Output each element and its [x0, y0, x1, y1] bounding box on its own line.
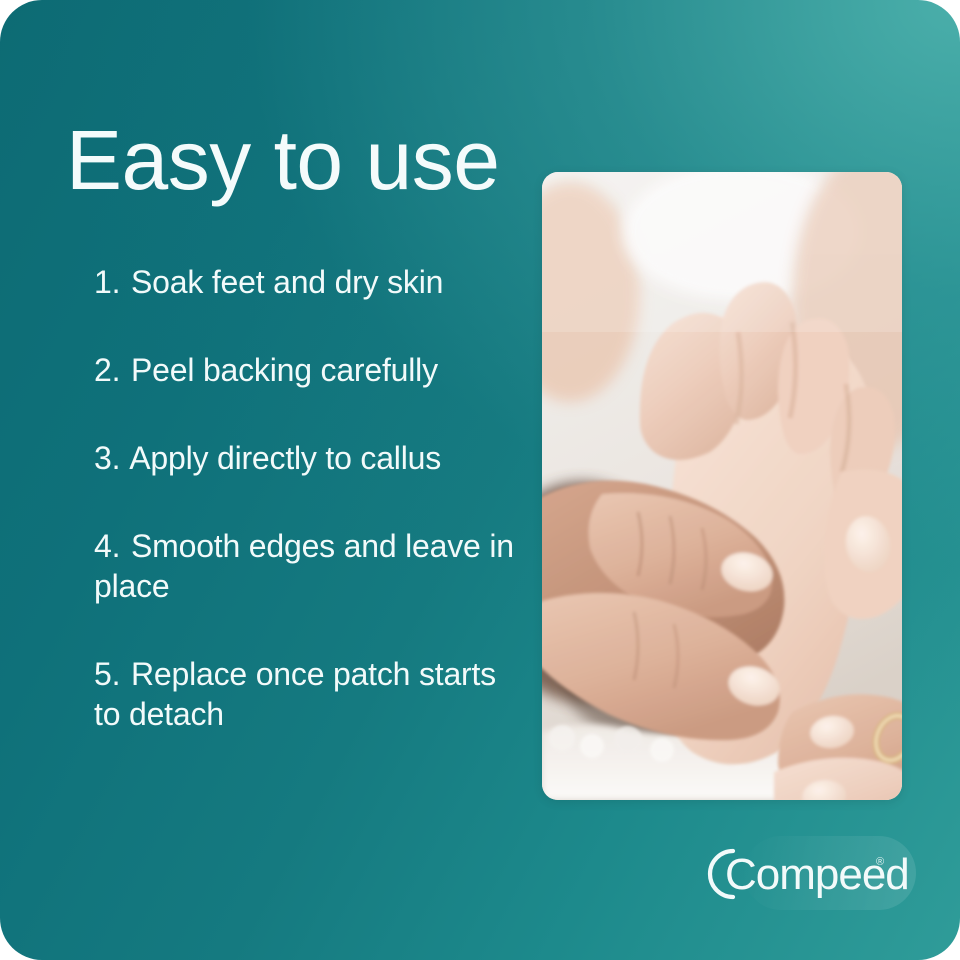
list-item-label: Apply directly to callus — [129, 440, 441, 476]
list-item-number: 4. — [94, 528, 120, 564]
registered-trademark-icon: ® — [876, 856, 884, 868]
promo-card: Easy to use 1. Soak feet and dry skin 2.… — [0, 0, 960, 960]
list-item-label: Peel backing carefully — [131, 352, 438, 388]
list-item-number: 2. — [94, 352, 120, 388]
list-item-label: Soak feet and dry skin — [131, 264, 443, 300]
list-item: 3. Apply directly to callus — [94, 438, 514, 478]
list-item: 5. Replace once patch starts to detach — [94, 654, 514, 734]
list-item-label: Smooth edges and leave in place — [94, 528, 514, 604]
list-item: 1. Soak feet and dry skin — [94, 262, 514, 302]
list-item: 4. Smooth edges and leave in place — [94, 526, 514, 606]
foot-massage-photo — [542, 172, 902, 800]
list-item-label: Replace once patch starts to detach — [94, 656, 496, 732]
list-item-number: 5. — [94, 656, 120, 692]
list-item: 2. Peel backing carefully — [94, 350, 514, 390]
compeed-wordmark: Compeed ® — [700, 842, 916, 906]
page-title: Easy to use — [66, 118, 499, 202]
list-item-number: 3. — [94, 440, 120, 476]
list-item-number: 1. — [94, 264, 120, 300]
brand-logo: Compeed ® — [700, 836, 916, 912]
instruction-list: 1. Soak feet and dry skin 2. Peel backin… — [94, 262, 514, 734]
